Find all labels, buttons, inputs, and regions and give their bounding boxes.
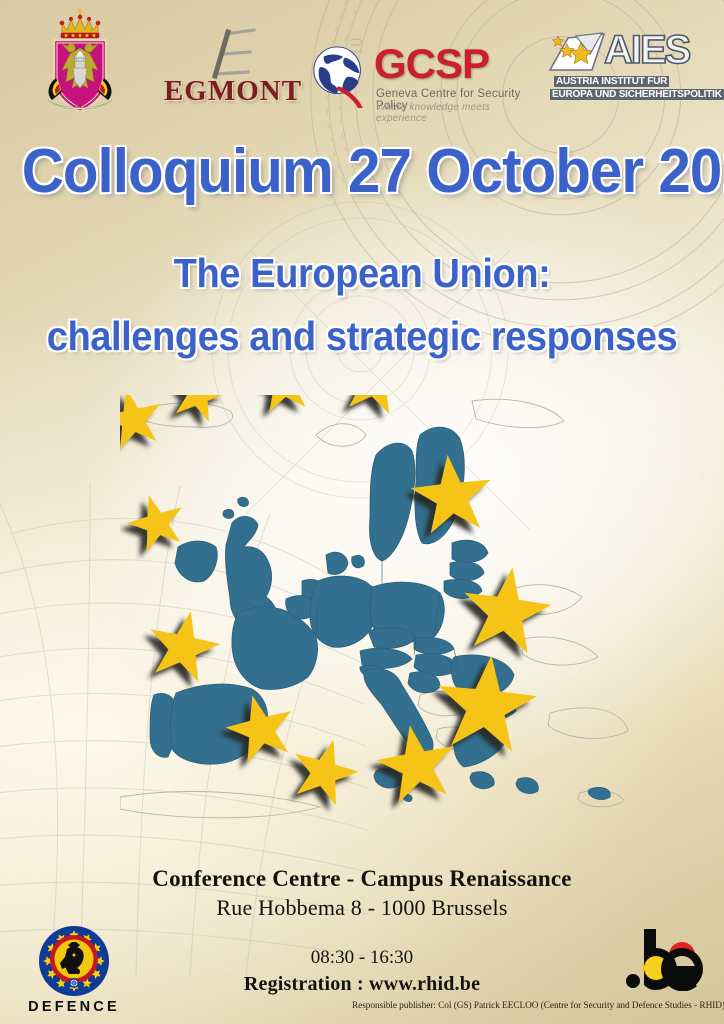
aies-wordmark: AIES <box>604 28 689 73</box>
venue-address: Rue Hobbema 8 - 1000 Brussels <box>0 895 724 921</box>
page-title: Colloquium 27 October 2015 <box>22 140 703 204</box>
gcsp-tagline: Where knowledge meets experience <box>376 102 538 124</box>
egmont-logo: EGMONT <box>158 28 308 110</box>
sponsor-logo-band: ERKA EGMONT <box>0 0 724 128</box>
defence-wordmark: DEFENCE <box>22 999 126 1015</box>
gcsp-logo: GCSP Geneva Centre for Security Policy W… <box>310 44 538 116</box>
aies-logo: AIES AUSTRIA INSTITUT FÜR EUROPA UND SIC… <box>546 32 712 110</box>
venue-name: Conference Centre - Campus Renaissance <box>0 866 724 892</box>
poster-canvas: 80 70 60 40 30 20 10 <box>0 0 724 1024</box>
belgian-defence-logo: DEFENCE <box>22 925 126 1021</box>
gcsp-wordmark: GCSP <box>374 40 489 88</box>
subtitle-line-2: challenges and strategic responses <box>25 313 698 360</box>
aies-subtitle-line1: AUSTRIA INSTITUT FÜR <box>554 76 669 87</box>
venue-block: Conference Centre - Campus Renaissance R… <box>0 866 724 921</box>
rma-coat-of-arms-logo: ERKA <box>40 8 120 120</box>
eu-stars-layer <box>120 395 630 845</box>
subtitle-line-1: The European Union: <box>25 250 698 297</box>
imprint-text: Responsible publisher: Col (GS) Patrick … <box>352 1001 720 1011</box>
aies-subtitle-line2: EUROPA UND SICHERHEITSPOLITIK <box>550 89 724 100</box>
be-belgium-logo <box>626 929 706 991</box>
svg-text:ERKA: ERKA <box>74 104 85 109</box>
europe-map-graphic <box>120 395 630 845</box>
egmont-wordmark: EGMONT <box>158 75 308 108</box>
